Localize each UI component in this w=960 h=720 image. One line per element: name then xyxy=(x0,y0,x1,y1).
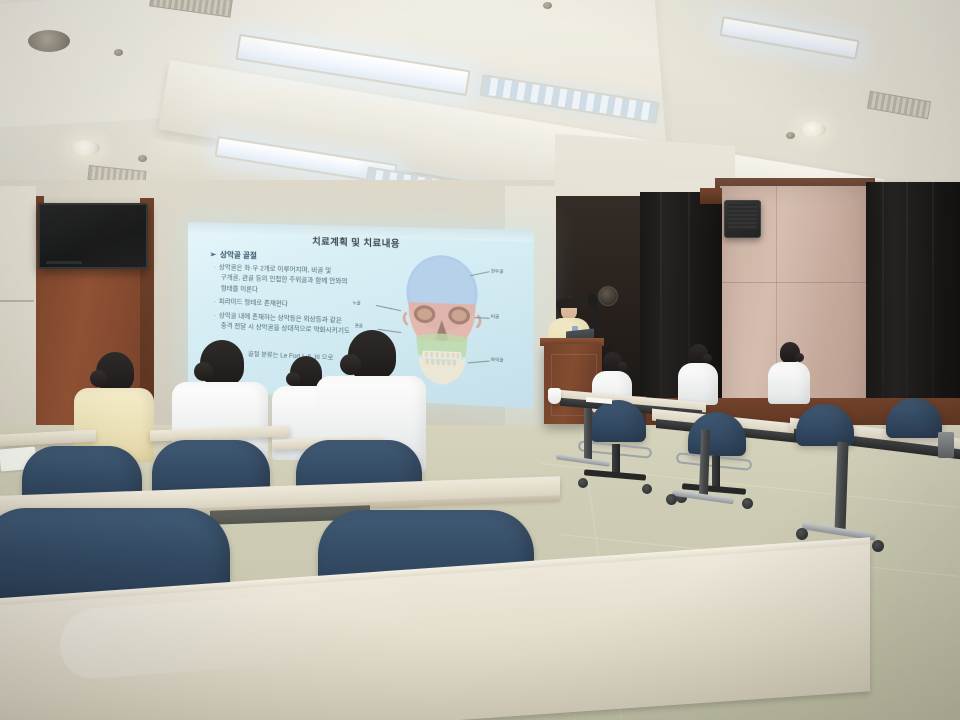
table-caster xyxy=(666,494,677,505)
sprinkler-icon xyxy=(114,49,123,56)
sprinkler-icon xyxy=(543,2,552,9)
paper-cup[interactable] xyxy=(548,388,561,404)
tv-indicator-bar xyxy=(46,261,82,264)
list-item: ·피라미드 형태로 존재한다 xyxy=(214,299,394,312)
wall-speaker xyxy=(724,200,761,238)
lecture-hall-photo: 치료계획 및 치료내용 ➢상악골 골절 ·상악골은 좌·우 2개로 이루어지며,… xyxy=(0,0,960,720)
audience-member xyxy=(678,344,718,404)
bullet-dot-icon: · xyxy=(214,298,216,305)
microphone-icon xyxy=(588,294,597,306)
bullet-line: 형태를 이룬다 xyxy=(221,286,394,299)
chair-caster xyxy=(578,478,588,488)
skull-label-right: 전두골 xyxy=(491,268,504,275)
skull-label-right: 하악골 xyxy=(491,357,504,364)
slide-section-heading: ➢상악골 골절 xyxy=(210,249,257,261)
sprinkler-icon xyxy=(786,132,795,139)
chair-caster xyxy=(642,484,652,494)
pillar-seam xyxy=(720,282,870,283)
audience-hair-bun xyxy=(90,370,107,387)
bullet-line: 피라미드 형태로 존재한다 xyxy=(219,298,288,308)
bullet-dot-icon: · xyxy=(214,312,216,319)
wall-clock xyxy=(598,286,618,306)
ceiling-light-fixture xyxy=(719,16,859,60)
audience-hair-bun xyxy=(703,354,712,363)
speaker-grille xyxy=(728,204,757,229)
audience-hair-bun xyxy=(194,362,213,381)
audience-hair-bun xyxy=(340,354,361,375)
chair-post xyxy=(612,444,620,474)
audience-member xyxy=(768,342,810,404)
pillar-trim xyxy=(700,188,722,204)
table-caster xyxy=(872,540,884,552)
table-caster xyxy=(796,528,808,540)
bullet-arrow-icon: ➢ xyxy=(210,250,216,259)
wall-tv[interactable] xyxy=(38,203,148,269)
list-item: ·상악골은 좌·우 2개로 이루어지며, 비골 및 구개골, 관골 등의 인접한… xyxy=(214,265,394,299)
sprinkler-icon xyxy=(138,155,147,162)
bullet-dot-icon: · xyxy=(214,264,216,271)
audience-hair-bun xyxy=(286,372,300,386)
presenter-hair-top xyxy=(556,298,582,308)
audience-torso xyxy=(678,363,718,405)
audience-hair-bun xyxy=(618,362,627,371)
downlight-icon xyxy=(800,122,826,137)
table-leg xyxy=(584,408,592,462)
wall-left-white xyxy=(0,186,36,466)
slide-section-heading-text: 상악골 골절 xyxy=(220,250,257,260)
downlight-icon xyxy=(28,30,70,52)
skull-label-right: 비골 xyxy=(491,314,499,321)
skull-label-left: 누골 xyxy=(353,300,361,306)
equipment-stand xyxy=(938,432,954,458)
chair-caster xyxy=(742,498,753,509)
wall-seam xyxy=(0,300,34,302)
audience-hair-bun xyxy=(795,353,804,362)
ceiling-vent xyxy=(867,91,931,119)
skull-label-left: 관골 xyxy=(355,323,363,330)
chair-post xyxy=(712,456,720,488)
audience-torso xyxy=(768,362,810,404)
downlight-icon xyxy=(70,140,100,156)
bullet-line: 상악골은 좌·우 2개로 이루어지며, 비골 및 xyxy=(219,264,331,275)
